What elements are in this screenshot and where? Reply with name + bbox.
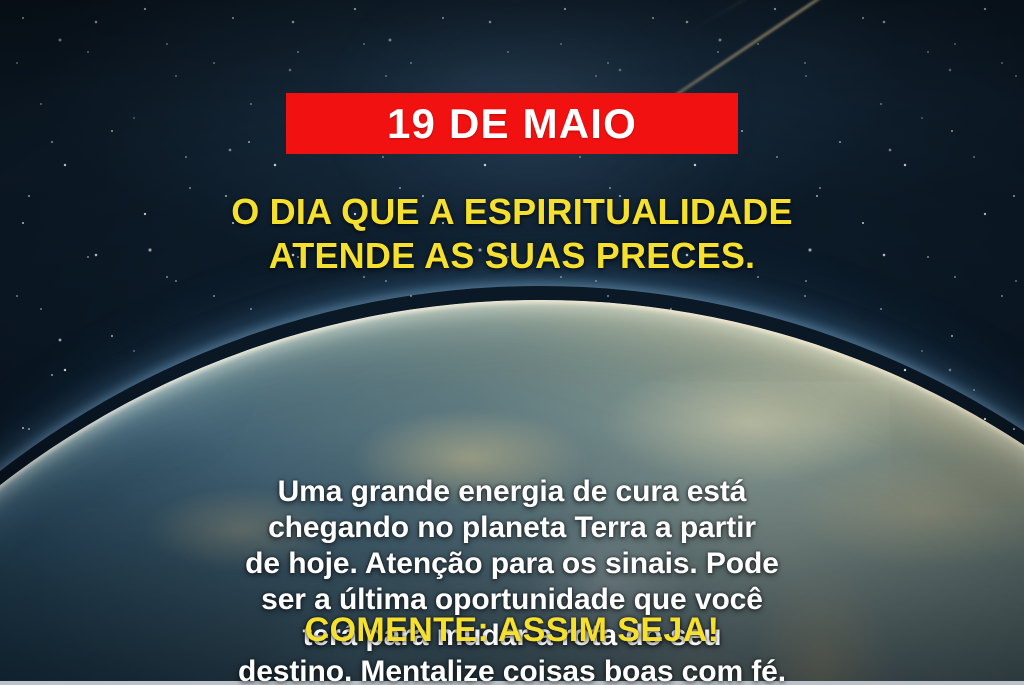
body-copy-line-3: de hoje. Atenção para os sinais. Pode bbox=[0, 546, 1024, 582]
poster: 19 DE MAIO O DIA QUE A ESPIRITUALIDADE A… bbox=[0, 0, 1024, 685]
body-copy-line-1: Uma grande energia de cura está bbox=[0, 474, 1024, 510]
headline-line-2: ATENDE AS SUAS PRECES. bbox=[0, 234, 1024, 278]
body-copy-line-2: chegando no planeta Terra a partir bbox=[0, 510, 1024, 546]
poster-content: 19 DE MAIO O DIA QUE A ESPIRITUALIDADE A… bbox=[0, 0, 1024, 685]
call-to-action-text: COMENTE: ASSIM SEJA! bbox=[0, 612, 1024, 649]
date-banner: 19 DE MAIO bbox=[286, 93, 738, 154]
headline-line-1: O DIA QUE A ESPIRITUALIDADE bbox=[0, 190, 1024, 234]
body-copy: Uma grande energia de cura está chegando… bbox=[0, 474, 1024, 685]
body-copy-line-6: destino. Mentalize coisas boas com fé. bbox=[0, 654, 1024, 685]
headline: O DIA QUE A ESPIRITUALIDADE ATENDE AS SU… bbox=[0, 190, 1024, 278]
date-banner-label: 19 DE MAIO bbox=[387, 103, 637, 145]
